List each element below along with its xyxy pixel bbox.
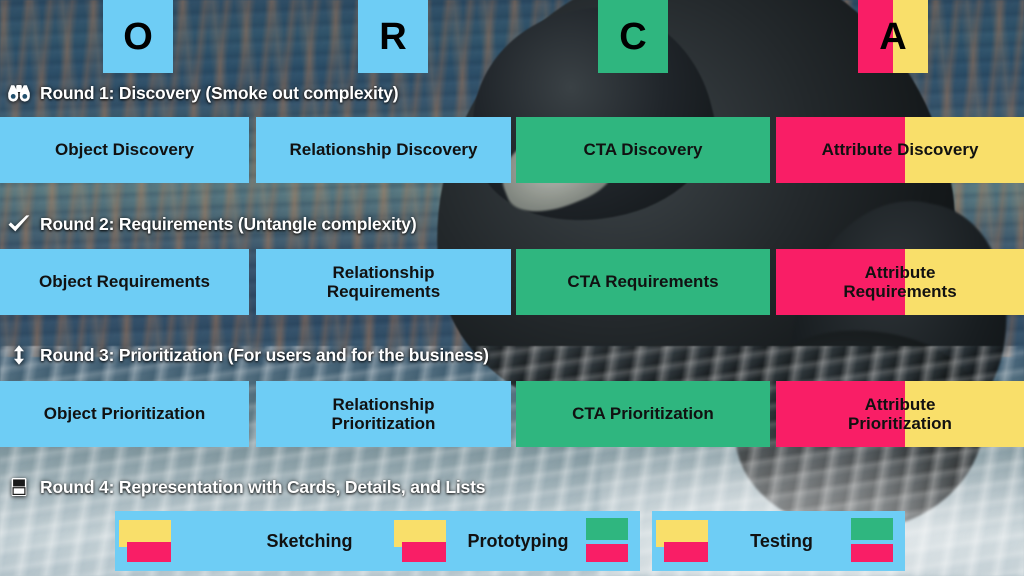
letter-tile-a-glyph: A xyxy=(879,18,906,56)
box-attribute-prioritization-label: Attribute Prioritization xyxy=(842,395,958,433)
rep-box-testing[interactable]: Testing xyxy=(652,511,905,571)
box-object-requirements[interactable]: Object Requirements xyxy=(0,249,249,315)
letter-tile-a: A xyxy=(858,0,928,73)
box-object-requirements-label: Object Requirements xyxy=(33,272,216,291)
letter-tile-r-glyph: R xyxy=(379,18,406,56)
binoculars-icon xyxy=(6,81,32,105)
round-2-heading: Round 2: Requirements (Untangle complexi… xyxy=(6,211,416,237)
box-attribute-prioritization[interactable]: Attribute Prioritization xyxy=(776,381,1024,447)
letter-tile-o: O xyxy=(103,0,173,73)
card-icon xyxy=(6,475,32,499)
box-cta-requirements-label: CTA Requirements xyxy=(561,272,724,291)
box-attribute-discovery[interactable]: Attribute Discovery xyxy=(776,117,1024,183)
prototype-list-icon xyxy=(584,518,630,564)
box-cta-discovery[interactable]: CTA Discovery xyxy=(516,117,770,183)
box-object-prioritization[interactable]: Object Prioritization xyxy=(0,381,249,447)
box-attribute-discovery-label: Attribute Discovery xyxy=(816,140,985,159)
box-attribute-requirements-label: Attribute Requirements xyxy=(837,263,962,301)
box-relationship-prioritization-label: Relationship Prioritization xyxy=(326,395,442,433)
rep-box-prototyping-label: Prototyping xyxy=(452,531,584,552)
box-object-discovery[interactable]: Object Discovery xyxy=(0,117,249,183)
letter-tile-c: C xyxy=(598,0,668,73)
round-1-heading-text: Round 1: Discovery (Smoke out complexity… xyxy=(40,83,398,104)
checkmark-icon xyxy=(6,212,32,236)
up-down-arrow-icon xyxy=(6,343,32,367)
round-3-heading: Round 3: Prioritization (For users and f… xyxy=(6,342,489,368)
round-1-heading: Round 1: Discovery (Smoke out complexity… xyxy=(6,80,398,106)
round-2-heading-text: Round 2: Requirements (Untangle complexi… xyxy=(40,214,416,235)
box-cta-prioritization[interactable]: CTA Prioritization xyxy=(516,381,770,447)
round-4-heading-text: Round 4: Representation with Cards, Deta… xyxy=(40,477,485,498)
box-cta-discovery-label: CTA Discovery xyxy=(577,140,708,159)
box-cta-prioritization-label: CTA Prioritization xyxy=(566,404,720,423)
rep-box-testing-label: Testing xyxy=(714,531,849,552)
box-relationship-discovery[interactable]: Relationship Discovery xyxy=(256,117,511,183)
box-attribute-requirements[interactable]: Attribute Requirements xyxy=(776,249,1024,315)
box-relationship-discovery-label: Relationship Discovery xyxy=(283,140,483,159)
sketch-card-icon xyxy=(115,518,177,564)
round-4-heading: Round 4: Representation with Cards, Deta… xyxy=(6,474,485,500)
box-relationship-requirements[interactable]: Relationship Requirements xyxy=(256,249,511,315)
round-3-heading-text: Round 3: Prioritization (For users and f… xyxy=(40,345,489,366)
testing-list-icon xyxy=(849,518,895,564)
box-relationship-requirements-label: Relationship Requirements xyxy=(321,263,446,301)
box-object-discovery-label: Object Discovery xyxy=(49,140,200,159)
letter-tile-r: R xyxy=(358,0,428,73)
box-cta-requirements[interactable]: CTA Requirements xyxy=(516,249,770,315)
prototype-card-icon xyxy=(390,518,452,564)
letter-tile-o-glyph: O xyxy=(123,18,153,56)
box-relationship-prioritization[interactable]: Relationship Prioritization xyxy=(256,381,511,447)
box-object-prioritization-label: Object Prioritization xyxy=(38,404,212,423)
testing-card-icon xyxy=(652,518,714,564)
letter-tile-c-glyph: C xyxy=(619,18,646,56)
rep-box-prototyping[interactable]: Prototyping xyxy=(390,511,640,571)
